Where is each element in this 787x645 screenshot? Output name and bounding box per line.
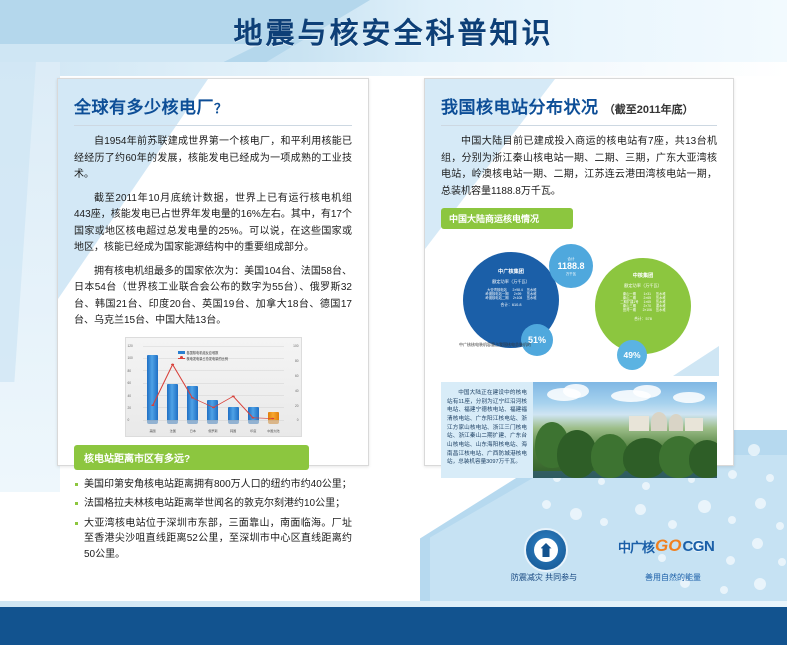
left-section-title-mark: ？ xyxy=(214,101,228,116)
chart-xaxis-labels: 美国 法国 日本 俄罗斯 韩国 印度 中国大陆 xyxy=(143,430,284,433)
left-section-title-text: 全球有多少核电厂 xyxy=(74,98,214,117)
earthquake-bureau-seal-icon xyxy=(524,528,568,572)
list-item: 美国印第安角核电站距离拥有800万人口的纽约市约40公里； xyxy=(74,477,352,493)
cgn-plant-table: 大亚湾核电站 2×98.4 压水堆 岭澳核电站一期 2×99 压水堆 岭澳核电站… xyxy=(483,288,538,300)
cnnc-group-circle: 中核集团 额定功率（万千瓦） 秦山一期 1×31 压水堆 秦山二期 2×65 压… xyxy=(595,258,691,354)
chart-ytick-right: 80 xyxy=(295,359,299,363)
plant-name: 岭澳核电站二期 xyxy=(483,296,510,300)
chart-xtick: 日本 xyxy=(186,430,200,433)
bubble-dot xyxy=(755,498,766,509)
cgn-logo-cn: 中广核 xyxy=(618,537,654,556)
left-green-callout-bar: 核电站距离市区有多远? xyxy=(74,445,309,470)
left-section-title: 全球有多少核电厂？ xyxy=(74,93,352,118)
cnnc-plant-table: 秦山一期 1×31 压水堆 秦山二期 2×65 压水堆 二期扩建1号 1×65 xyxy=(618,292,667,313)
bubble-dot xyxy=(598,478,605,485)
tree-shape xyxy=(689,440,717,478)
left-logo-caption: 防震减灾 共同参与 xyxy=(500,572,588,583)
bubble-dot xyxy=(748,444,760,456)
cnnc-share-bubble: 49% xyxy=(617,340,647,370)
chart-xtick: 美国 xyxy=(146,430,160,433)
left-content-card: 全球有多少核电厂？ 自1954年前苏联建成世界第一个核电厂，和平利用核能已经经历… xyxy=(57,78,369,466)
left-bullet-list: 美国印第安角核电站距离拥有800万人口的纽约市约40公里； 法国格拉夫林核电站距… xyxy=(74,477,352,563)
bubble-dot xyxy=(728,516,736,524)
bubble-dot xyxy=(778,558,786,566)
bubble-dot xyxy=(766,474,774,482)
cgn-total: 合计：610.8 xyxy=(501,303,522,308)
left-paragraph-1: 自1954年前苏联建成世界第一个核电厂，和平利用核能已经经历了约60年的发展，核… xyxy=(74,134,352,184)
right-section-title-sub: （截至2011年底） xyxy=(604,104,694,116)
plant-name: 田湾一期 xyxy=(618,308,640,312)
cgn-logo-en: CGN xyxy=(682,538,714,555)
seal-glyph-icon xyxy=(541,543,552,557)
cloud-shape xyxy=(673,392,705,403)
chart-ytick-right: 100 xyxy=(293,344,298,348)
footer-logos: 防震减灾 共同参与 中广核 GO CGN 善用自然的能量 xyxy=(500,528,740,590)
bubble-dot xyxy=(542,500,551,509)
reactor-dome xyxy=(669,414,683,431)
chart-xtick: 俄罗斯 xyxy=(206,430,220,433)
header-banner: 地震与核安全科普知识 xyxy=(0,0,787,62)
right-section-title: 我国核电站分布状况 （截至2011年底） xyxy=(441,93,717,118)
nuclear-operators-infographic: 中广核集团 额定功率（万千瓦） 大亚湾核电站 2×98.4 压水堆 岭澳核电站一… xyxy=(441,236,719,376)
legend-label-line: 核电发电量占总发电量的比例 xyxy=(187,356,228,361)
infographic-note: 中广核核电装机容量占我国核电总装机的 xyxy=(459,342,531,348)
list-item: 大亚湾核电站位于深圳市东部，三面靠山，南面临海。厂址至香港尖沙咀直线距离52公里… xyxy=(74,516,352,563)
chart-ytick-left: 0 xyxy=(128,418,130,422)
chart-ytick-right: 60 xyxy=(295,374,299,378)
right-section-title-text: 我国核电站分布状况 xyxy=(441,98,599,117)
chart-ytick-left: 80 xyxy=(128,369,132,373)
chart-xtick: 中国大陆 xyxy=(266,430,280,433)
chart-legend-item-bars: 各国核电机组反应堆数 xyxy=(178,350,228,355)
bubble-dot xyxy=(642,482,650,490)
plant-capacity: 2×108 xyxy=(511,296,525,300)
infographic-corner-decoration xyxy=(673,346,719,376)
plant-building xyxy=(629,416,649,431)
bubble-dot xyxy=(635,504,646,515)
reactor-dome xyxy=(651,412,667,431)
total-capacity-value: 1188.8 xyxy=(557,262,584,271)
photo-caption-text: 中国大陆正在建设中的核电站有11座，分别为辽宁红沿河核电站、福建宁德核电站、福建… xyxy=(447,389,527,467)
cgn-share-bubble: 51% xyxy=(521,324,553,356)
photo-with-caption: 中国大陆正在建设中的核电站有11座，分别为辽宁红沿河核电站、福建宁德核电站、福建… xyxy=(441,382,717,478)
chart-legend-item-line: 核电发电量占总发电量的比例 xyxy=(178,356,228,361)
cgn-group-name: 中广核集团 xyxy=(498,268,524,275)
table-row: 田湾一期 2×106 压水堆 xyxy=(618,308,667,312)
footer-navy-bar xyxy=(0,607,787,645)
bubble-dot xyxy=(600,518,608,526)
plant-type: 压水堆 xyxy=(654,308,668,312)
body-top-tint xyxy=(0,62,787,76)
title-divider xyxy=(74,125,352,126)
photo-caption-box: 中国大陆正在建设中的核电站有11座，分别为辽宁红沿河核电站、福建宁德核电站、福建… xyxy=(441,382,533,478)
legend-swatch-bar-icon xyxy=(178,351,185,354)
legend-label-bars: 各国核电机组反应堆数 xyxy=(187,350,219,355)
bubble-dot xyxy=(752,538,763,549)
chart-ytick-right: 40 xyxy=(295,389,299,393)
list-item: 法国格拉夫林核电站距离举世闻名的敦克尔刻港约10公里； xyxy=(74,496,352,512)
chart-xtick: 法国 xyxy=(166,430,180,433)
seal-inner-ring xyxy=(534,538,558,562)
cgn-logo-mark-icon: GO xyxy=(655,536,681,556)
bubble-dot xyxy=(776,522,784,530)
page-title: 地震与核安全科普知识 xyxy=(0,0,787,62)
right-green-callout-bar: 中国大陆商运核电情况 xyxy=(441,208,573,229)
chart-ytick-right: 20 xyxy=(295,404,299,408)
total-capacity-bubble: 合计 1188.8 万千瓦 xyxy=(549,244,593,288)
chart-ytick-left: 40 xyxy=(128,394,132,398)
cnnc-group-name: 中核集团 xyxy=(633,272,654,279)
left-paragraph-2: 截至2011年10月底统计数据，世界上已有运行核电机组443座，核能发电已占世界… xyxy=(74,191,352,257)
chart-ytick-left: 120 xyxy=(128,344,133,348)
total-capacity-unit: 万千瓦 xyxy=(566,271,576,276)
bubble-dot xyxy=(754,578,766,590)
bubble-dot xyxy=(570,508,582,520)
title-divider xyxy=(441,125,717,126)
cloud-shape xyxy=(563,384,589,398)
nuclear-plant-photo xyxy=(533,382,717,478)
plant-type: 压水堆 xyxy=(525,296,539,300)
right-logo-caption: 善用自然的能量 xyxy=(608,572,738,583)
chart-xtick: 印度 xyxy=(246,430,260,433)
chart-ytick-right: 0 xyxy=(297,418,299,422)
cgn-logo: 中广核 GO CGN xyxy=(618,536,714,556)
chart-ytick-left: 100 xyxy=(128,356,133,360)
poster-page: 地震与核安全科普知识 xyxy=(0,0,787,645)
plant-capacity: 2×106 xyxy=(641,308,654,312)
right-paragraph: 中国大陆目前已建成投入商运的核电站有7座，共13台机组，分别为浙江秦山核电站一期… xyxy=(441,134,717,200)
cloud-shape xyxy=(633,385,661,398)
cgn-group-subtitle: 额定功率（万千瓦） xyxy=(492,279,530,285)
table-row: 岭澳核电站二期 2×108 压水堆 xyxy=(483,296,538,300)
bubble-dot xyxy=(698,500,711,513)
left-paragraph-3: 拥有核电机组最多的国家依次为：美国104台、法国58台、日本54台（世界核工业联… xyxy=(74,264,352,330)
plant-building xyxy=(685,418,703,431)
nuclear-reactor-bar-chart: 120 100 80 60 40 20 0 100 80 60 40 20 0 … xyxy=(125,337,302,437)
chart-ytick-left: 20 xyxy=(128,406,132,410)
chart-ytick-left: 60 xyxy=(128,381,132,385)
chart-xtick: 韩国 xyxy=(226,430,240,433)
cnnc-total: 合计：578 xyxy=(634,317,652,322)
cnnc-group-subtitle: 额定功率（万千瓦） xyxy=(624,283,662,289)
legend-swatch-line-icon xyxy=(178,358,185,359)
chart-legend: 各国核电机组反应堆数 核电发电量占总发电量的比例 xyxy=(178,350,228,362)
right-content-card: 我国核电站分布状况 （截至2011年底） 中国大陆目前已建成投入商运的核电站有7… xyxy=(424,78,734,466)
